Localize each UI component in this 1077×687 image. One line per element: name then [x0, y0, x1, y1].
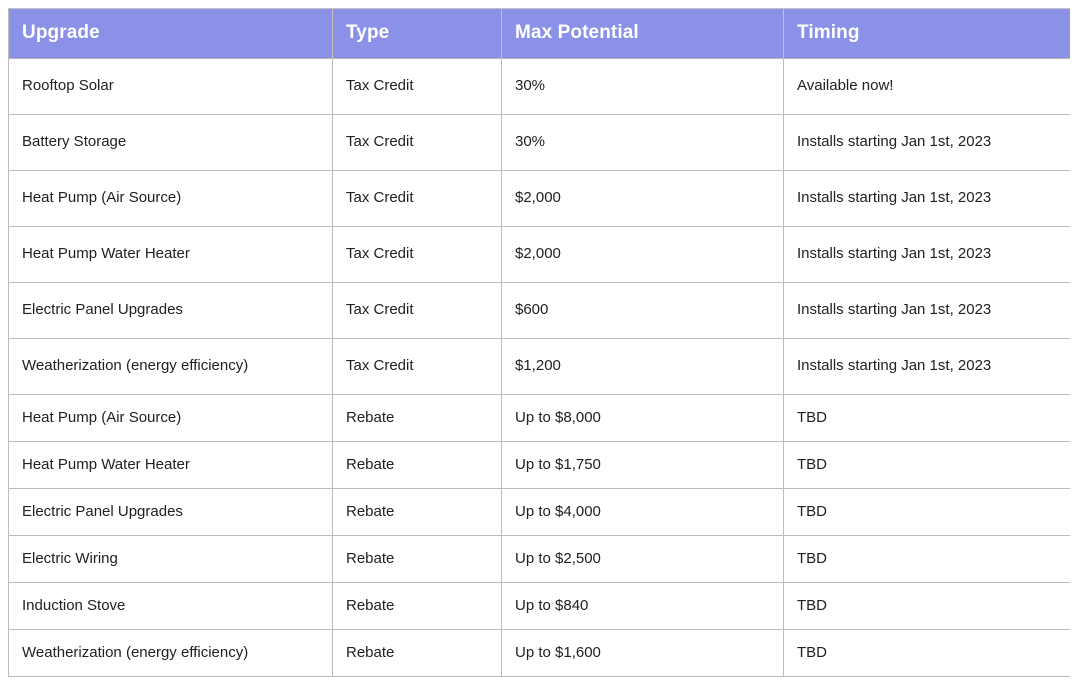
cell-max-potential: $2,000 — [502, 227, 784, 283]
cell-upgrade: Electric Panel Upgrades — [9, 283, 333, 339]
cell-type: Rebate — [333, 630, 502, 677]
column-header-timing[interactable]: Timing — [784, 9, 1071, 59]
cell-timing: Installs starting Jan 1st, 2023 — [784, 115, 1071, 171]
cell-timing: TBD — [784, 536, 1071, 583]
cell-type: Tax Credit — [333, 227, 502, 283]
cell-upgrade: Electric Panel Upgrades — [9, 489, 333, 536]
table-header-row: Upgrade Type Max Potential Timing — [9, 9, 1071, 59]
cell-upgrade: Heat Pump Water Heater — [9, 442, 333, 489]
cell-max-potential: Up to $1,750 — [502, 442, 784, 489]
table-header: Upgrade Type Max Potential Timing — [9, 9, 1071, 59]
table-body: Rooftop SolarTax Credit30%Available now!… — [9, 59, 1071, 677]
cell-max-potential: $1,200 — [502, 339, 784, 395]
incentives-table-container: Upgrade Type Max Potential Timing Roofto… — [8, 8, 1070, 684]
cell-upgrade: Battery Storage — [9, 115, 333, 171]
cell-type: Rebate — [333, 489, 502, 536]
cell-upgrade: Heat Pump (Air Source) — [9, 171, 333, 227]
cell-max-potential: Up to $8,000 — [502, 395, 784, 442]
table-row: Rooftop SolarTax Credit30%Available now! — [9, 59, 1071, 115]
incentives-table: Upgrade Type Max Potential Timing Roofto… — [8, 8, 1070, 677]
cell-upgrade: Weatherization (energy efficiency) — [9, 339, 333, 395]
cell-type: Tax Credit — [333, 115, 502, 171]
cell-type: Rebate — [333, 442, 502, 489]
cell-max-potential: Up to $4,000 — [502, 489, 784, 536]
cell-max-potential: $600 — [502, 283, 784, 339]
table-row: Heat Pump (Air Source)RebateUp to $8,000… — [9, 395, 1071, 442]
cell-timing: Installs starting Jan 1st, 2023 — [784, 171, 1071, 227]
cell-upgrade: Rooftop Solar — [9, 59, 333, 115]
cell-type: Tax Credit — [333, 171, 502, 227]
table-row: Electric Panel UpgradesTax Credit$600Ins… — [9, 283, 1071, 339]
table-row: Weatherization (energy efficiency)Rebate… — [9, 630, 1071, 677]
column-header-max-potential[interactable]: Max Potential — [502, 9, 784, 59]
table-row: Heat Pump Water HeaterTax Credit$2,000In… — [9, 227, 1071, 283]
cell-timing: Installs starting Jan 1st, 2023 — [784, 283, 1071, 339]
cell-max-potential: Up to $1,600 — [502, 630, 784, 677]
cell-type: Rebate — [333, 583, 502, 630]
cell-upgrade: Electric Wiring — [9, 536, 333, 583]
cell-timing: TBD — [784, 583, 1071, 630]
cell-timing: Available now! — [784, 59, 1071, 115]
cell-max-potential: Up to $840 — [502, 583, 784, 630]
table-row: Heat Pump (Air Source)Tax Credit$2,000In… — [9, 171, 1071, 227]
column-header-type[interactable]: Type — [333, 9, 502, 59]
cell-max-potential: 30% — [502, 59, 784, 115]
table-row: Induction StoveRebateUp to $840TBD — [9, 583, 1071, 630]
cell-max-potential: Up to $2,500 — [502, 536, 784, 583]
column-header-upgrade[interactable]: Upgrade — [9, 9, 333, 59]
table-row: Electric WiringRebateUp to $2,500TBD — [9, 536, 1071, 583]
table-row: Electric Panel UpgradesRebateUp to $4,00… — [9, 489, 1071, 536]
cell-type: Tax Credit — [333, 339, 502, 395]
cell-timing: TBD — [784, 630, 1071, 677]
cell-max-potential: 30% — [502, 115, 784, 171]
cell-timing: TBD — [784, 489, 1071, 536]
cell-upgrade: Heat Pump Water Heater — [9, 227, 333, 283]
cell-type: Rebate — [333, 395, 502, 442]
cell-timing: TBD — [784, 395, 1071, 442]
cell-type: Rebate — [333, 536, 502, 583]
cell-upgrade: Induction Stove — [9, 583, 333, 630]
cell-timing: TBD — [784, 442, 1071, 489]
cell-timing: Installs starting Jan 1st, 2023 — [784, 227, 1071, 283]
cell-timing: Installs starting Jan 1st, 2023 — [784, 339, 1071, 395]
cell-max-potential: $2,000 — [502, 171, 784, 227]
cell-type: Tax Credit — [333, 283, 502, 339]
cell-upgrade: Weatherization (energy efficiency) — [9, 630, 333, 677]
table-row: Heat Pump Water HeaterRebateUp to $1,750… — [9, 442, 1071, 489]
table-row: Battery StorageTax Credit30%Installs sta… — [9, 115, 1071, 171]
table-row: Weatherization (energy efficiency)Tax Cr… — [9, 339, 1071, 395]
cell-type: Tax Credit — [333, 59, 502, 115]
cell-upgrade: Heat Pump (Air Source) — [9, 395, 333, 442]
